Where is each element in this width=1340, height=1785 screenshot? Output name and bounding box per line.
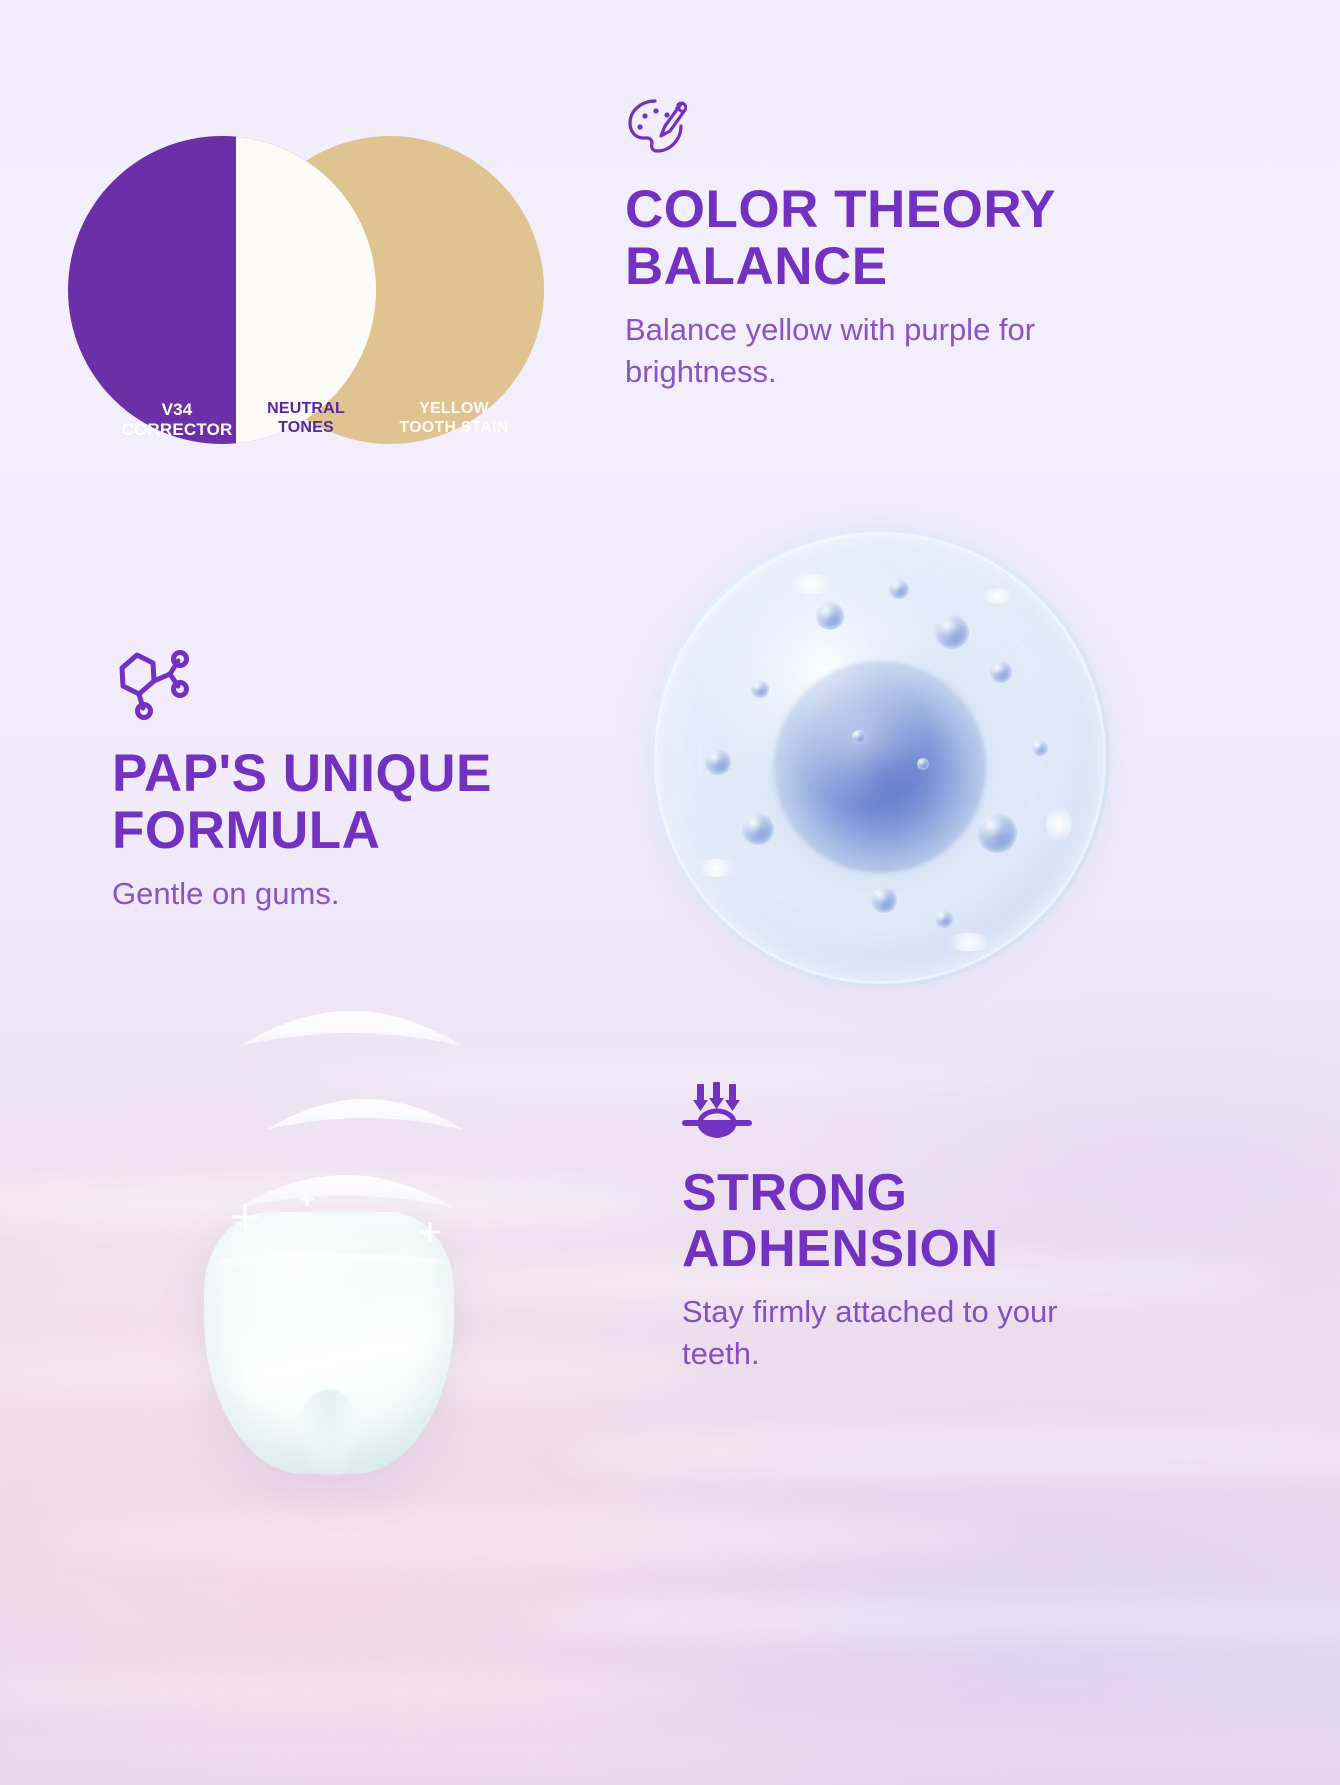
feature-body: Stay firmly attached to your teeth. — [682, 1291, 1102, 1374]
venn-intersection-neutral — [236, 136, 376, 444]
cloud-streak — [0, 1720, 1340, 1776]
gel-core — [774, 661, 986, 873]
venn-label-neutral-tones: NEUTRAL TONES — [258, 400, 354, 438]
gel-bubble — [871, 887, 897, 913]
white-tooth-illustration — [204, 1212, 454, 1474]
venn-label-line1: NEUTRAL — [258, 400, 354, 419]
feature-title: PAP'S UNIQUE FORMULA — [112, 745, 632, 859]
gel-bubble — [917, 758, 929, 770]
feature-title-line1: PAP'S UNIQUE — [112, 744, 492, 803]
whitening-strip-arc — [240, 994, 462, 1062]
feature-title-line2: BALANCE — [625, 237, 888, 296]
gel-highlight — [981, 588, 1015, 604]
venn-label-line2: CORRECTOR — [82, 420, 272, 440]
feature-title-line1: COLOR THEORY — [625, 180, 1056, 239]
feature-title: COLOR THEORY BALANCE — [625, 181, 1145, 295]
feature-body: Balance yellow with purple for brightnes… — [625, 309, 1145, 392]
whitening-strip-arc — [266, 1082, 464, 1144]
gel-bubble — [889, 579, 909, 599]
gel-bubble — [705, 749, 731, 775]
venn-label-line1: V34 — [82, 400, 272, 420]
gel-bubble — [977, 813, 1017, 853]
venn-label-line1: YELLOW — [364, 400, 544, 419]
venn-label-v34-corrector: V34 CORRECTOR — [82, 400, 272, 440]
feature-title-line2: FORMULA — [112, 801, 380, 860]
cloud-streak — [560, 1432, 1340, 1474]
paint-palette-icon — [625, 96, 1145, 161]
venn-label-line2: TOOTH STAIN — [364, 419, 544, 438]
infographic-poster: V34 CORRECTOR NEUTRAL TONES YELLOW TOOTH… — [0, 0, 1340, 1785]
gel-bubble — [816, 602, 844, 630]
blue-gel-serum-droplet — [650, 528, 1110, 988]
feature-title-line1: STRONG — [682, 1164, 907, 1222]
gel-highlight — [1046, 804, 1072, 844]
feature-body: Gentle on gums. — [112, 873, 632, 915]
gel-highlight — [944, 933, 994, 951]
gel-bubble — [935, 910, 953, 928]
feature-strong-adhesion: STRONG ADHENSION Stay firmly attached to… — [682, 1082, 1102, 1374]
adhesion-pressure-icon — [682, 1082, 1102, 1145]
feature-title: STRONG ADHENSION — [682, 1165, 1102, 1277]
molecule-icon — [112, 648, 632, 725]
gel-bubble — [1032, 740, 1048, 756]
color-theory-venn-diagram: V34 CORRECTOR NEUTRAL TONES YELLOW TOOTH… — [68, 136, 544, 444]
feature-color-theory-balance: COLOR THEORY BALANCE Balance yellow with… — [625, 96, 1145, 393]
feature-title-line2: ADHENSION — [682, 1220, 999, 1278]
cloud-streak — [0, 1670, 740, 1714]
cloud-streak — [40, 1512, 1020, 1562]
tooth-shine — [214, 1254, 444, 1270]
gel-bubble — [742, 813, 774, 845]
feature-paps-unique-formula: PAP'S UNIQUE FORMULA Gentle on gums. — [112, 648, 632, 915]
gel-bubble — [751, 680, 769, 698]
venn-label-line2: TONES — [258, 419, 354, 438]
gel-highlight — [788, 574, 834, 594]
cloud-streak — [520, 1596, 1340, 1642]
venn-label-yellow-tooth-stain: YELLOW TOOTH STAIN — [364, 400, 544, 438]
